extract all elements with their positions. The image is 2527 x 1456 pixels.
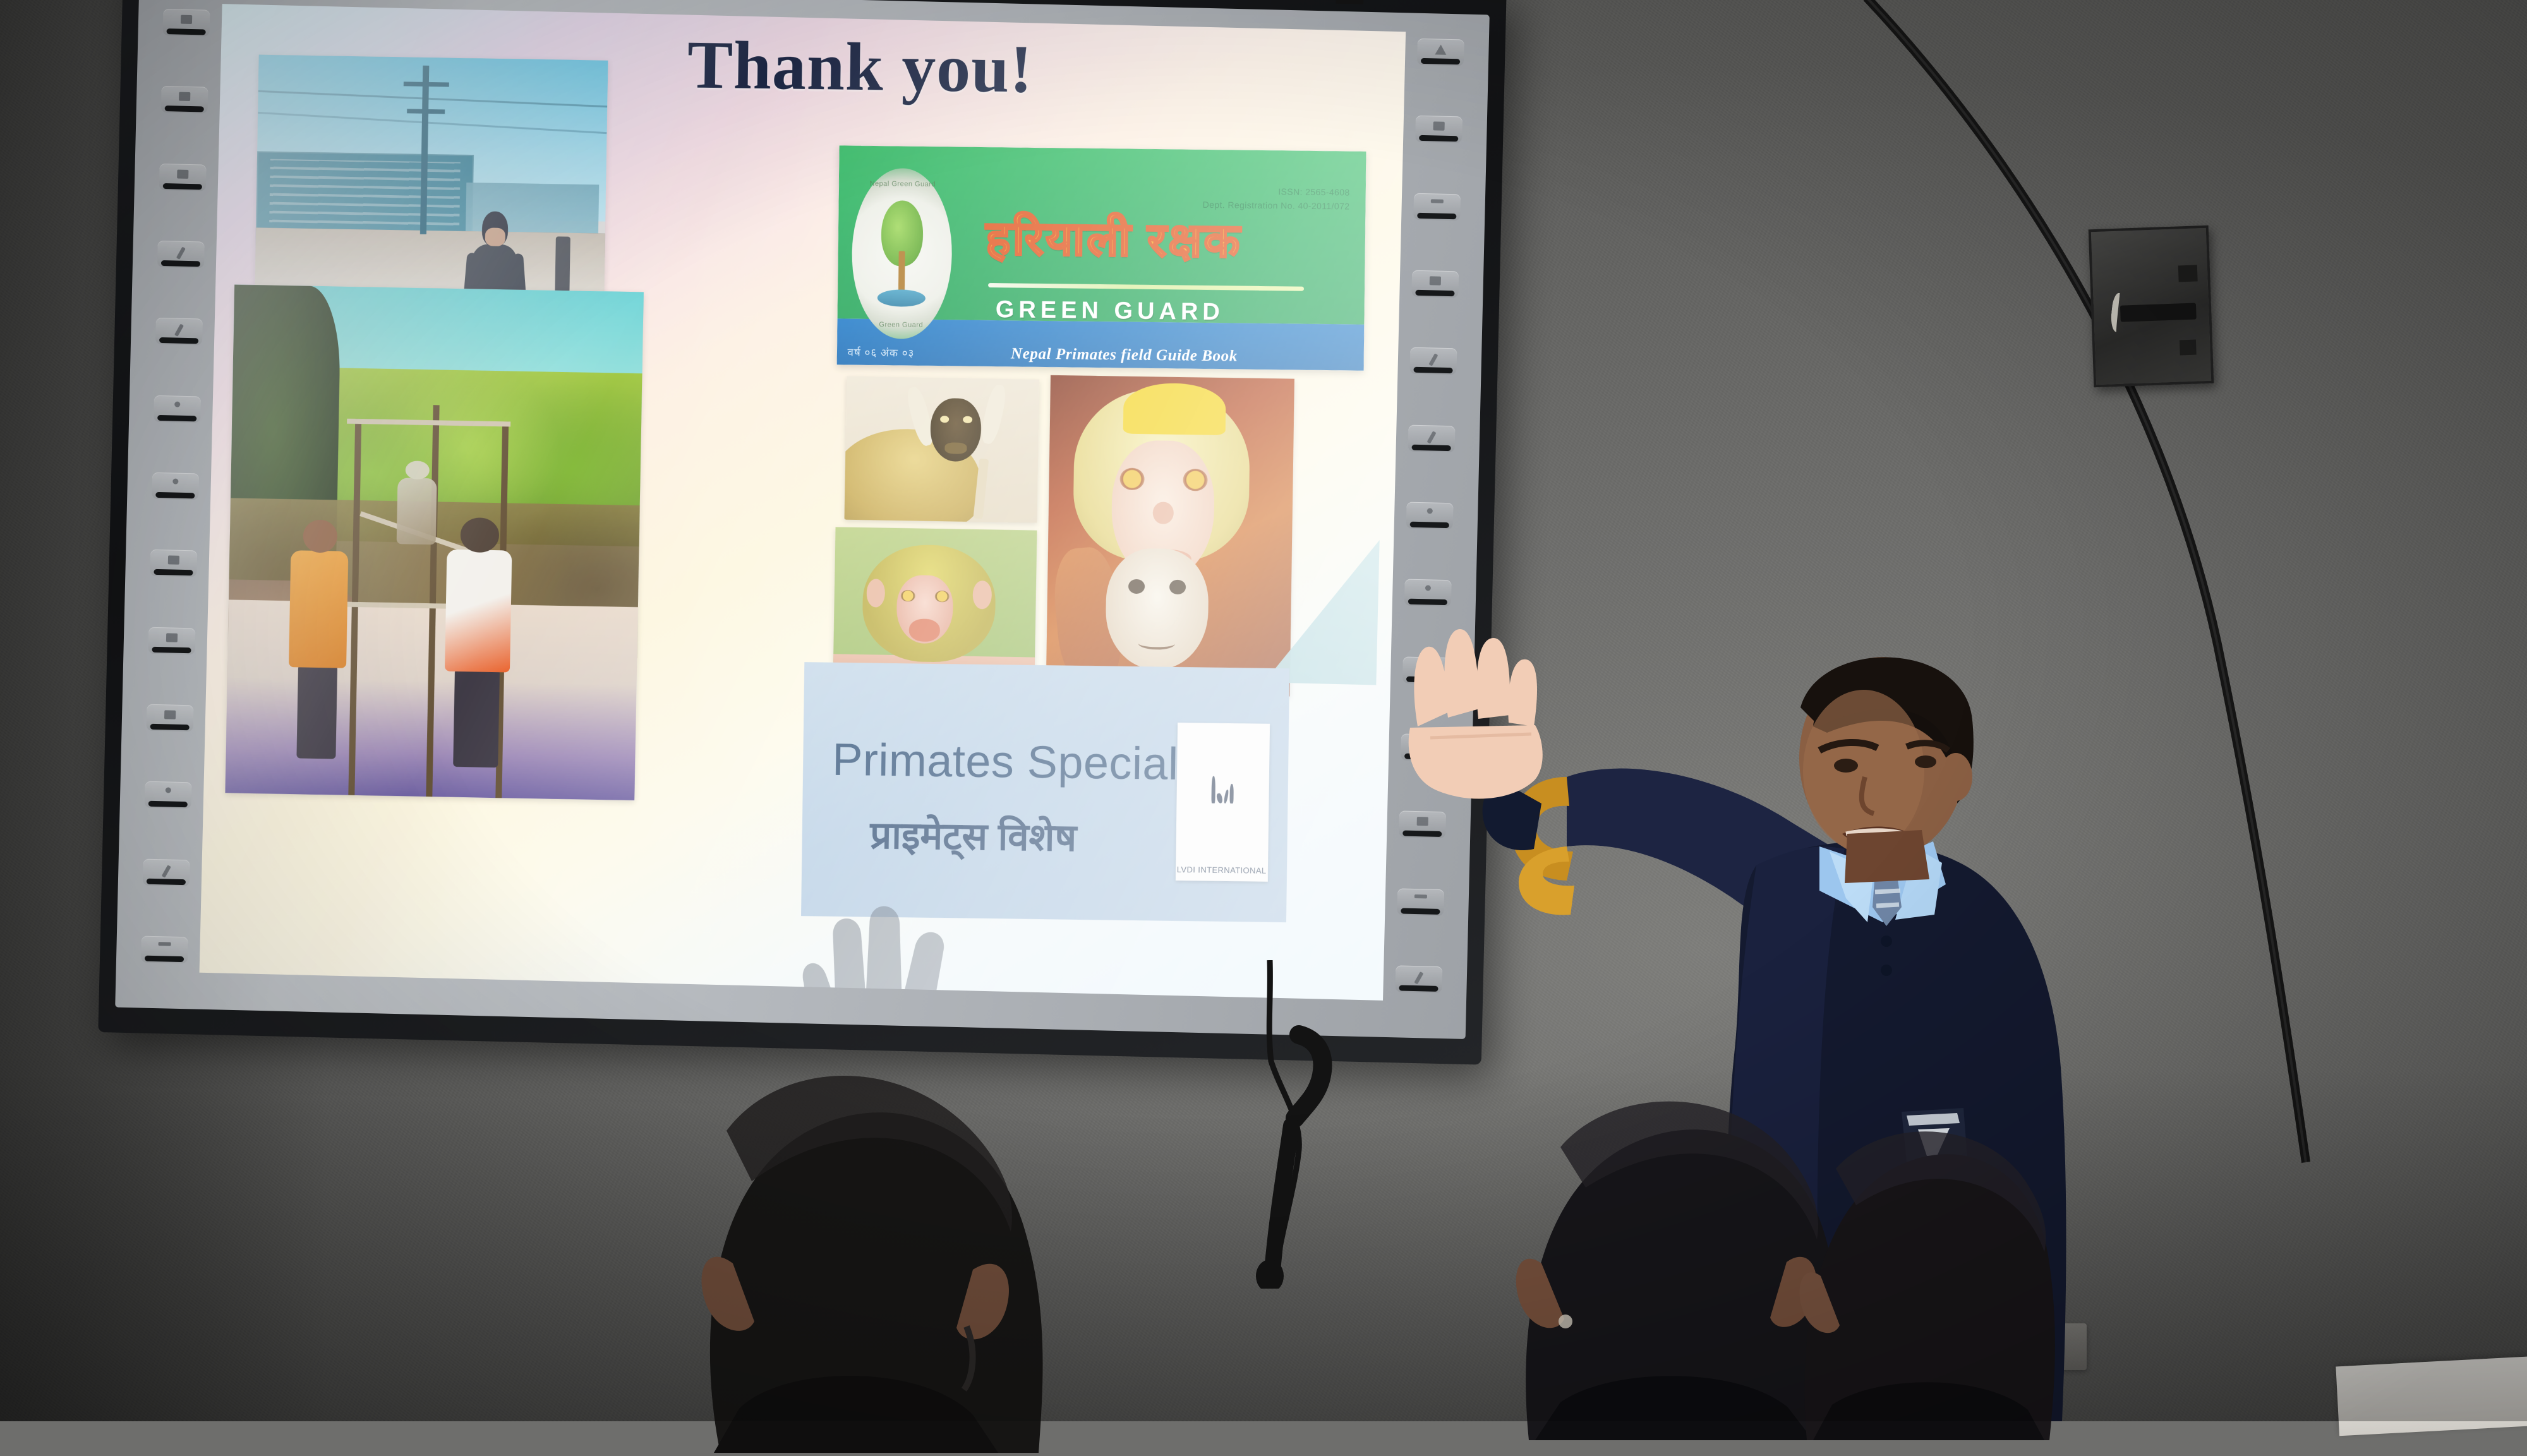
image-vignette [0, 0, 2527, 1421]
classroom-scene: Thank you! [0, 0, 2527, 1421]
